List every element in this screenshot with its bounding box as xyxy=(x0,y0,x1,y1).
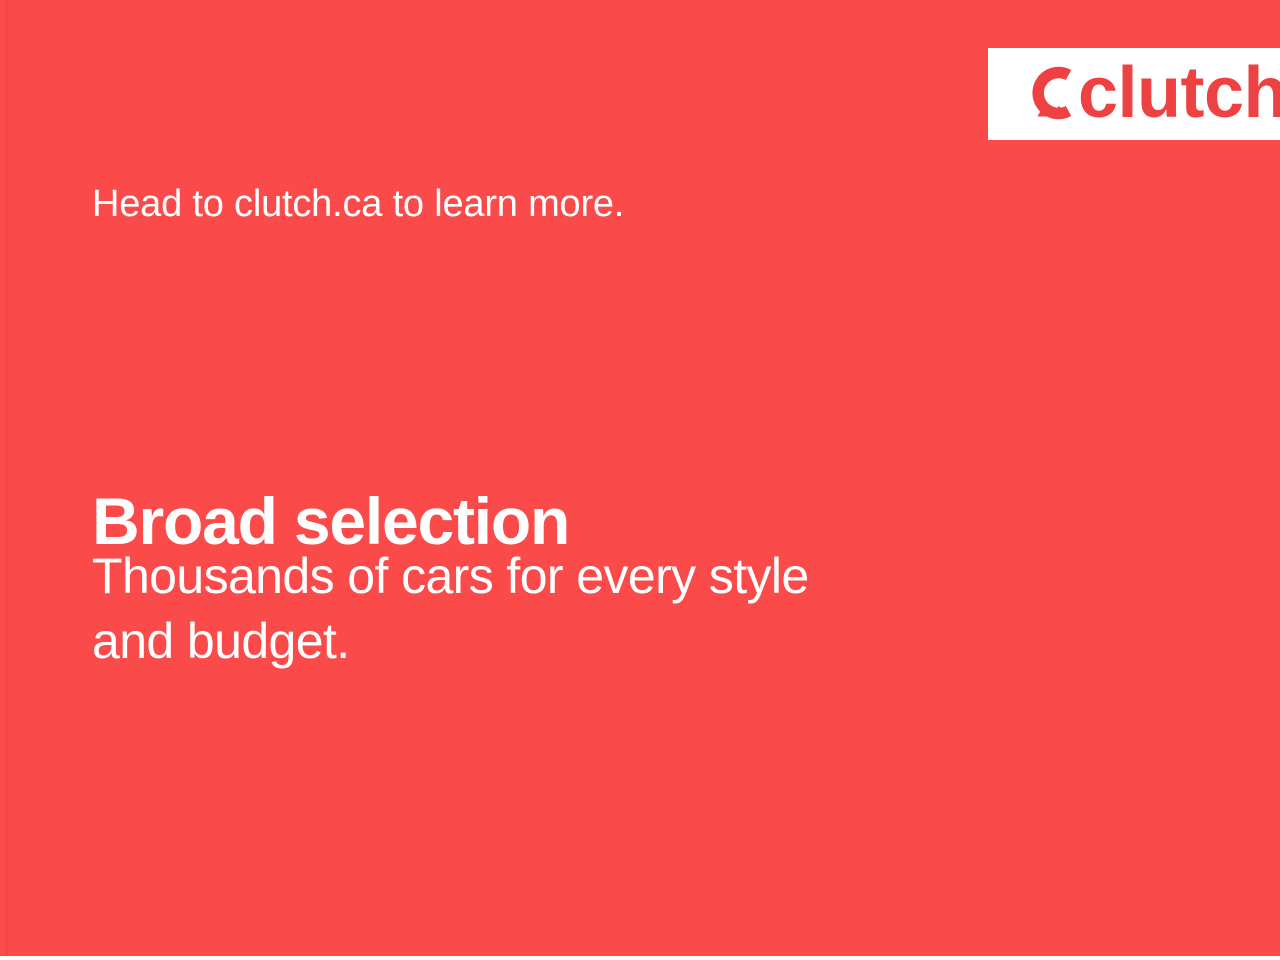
brand-logo-plate: clutch xyxy=(988,48,1280,140)
slide-left-edge-seam xyxy=(6,0,8,960)
slide-background xyxy=(0,0,1280,960)
brand-lockup: clutch xyxy=(1024,57,1280,129)
brand-wordmark: clutch xyxy=(1078,57,1280,129)
kicker-text: Head to clutch.ca to learn more. xyxy=(92,182,624,228)
clutch-promo-slide: clutch Head to clutch.ca to learn more. … xyxy=(0,0,1280,960)
subcopy-line-1: Thousands of cars for every style xyxy=(92,544,809,609)
subcopy-block: Thousands of cars for every style and bu… xyxy=(92,544,809,674)
clutch-c-mark-icon xyxy=(1024,62,1076,124)
slide-bottom-edge-seam xyxy=(0,956,1280,960)
subcopy-line-2: and budget. xyxy=(92,609,809,674)
